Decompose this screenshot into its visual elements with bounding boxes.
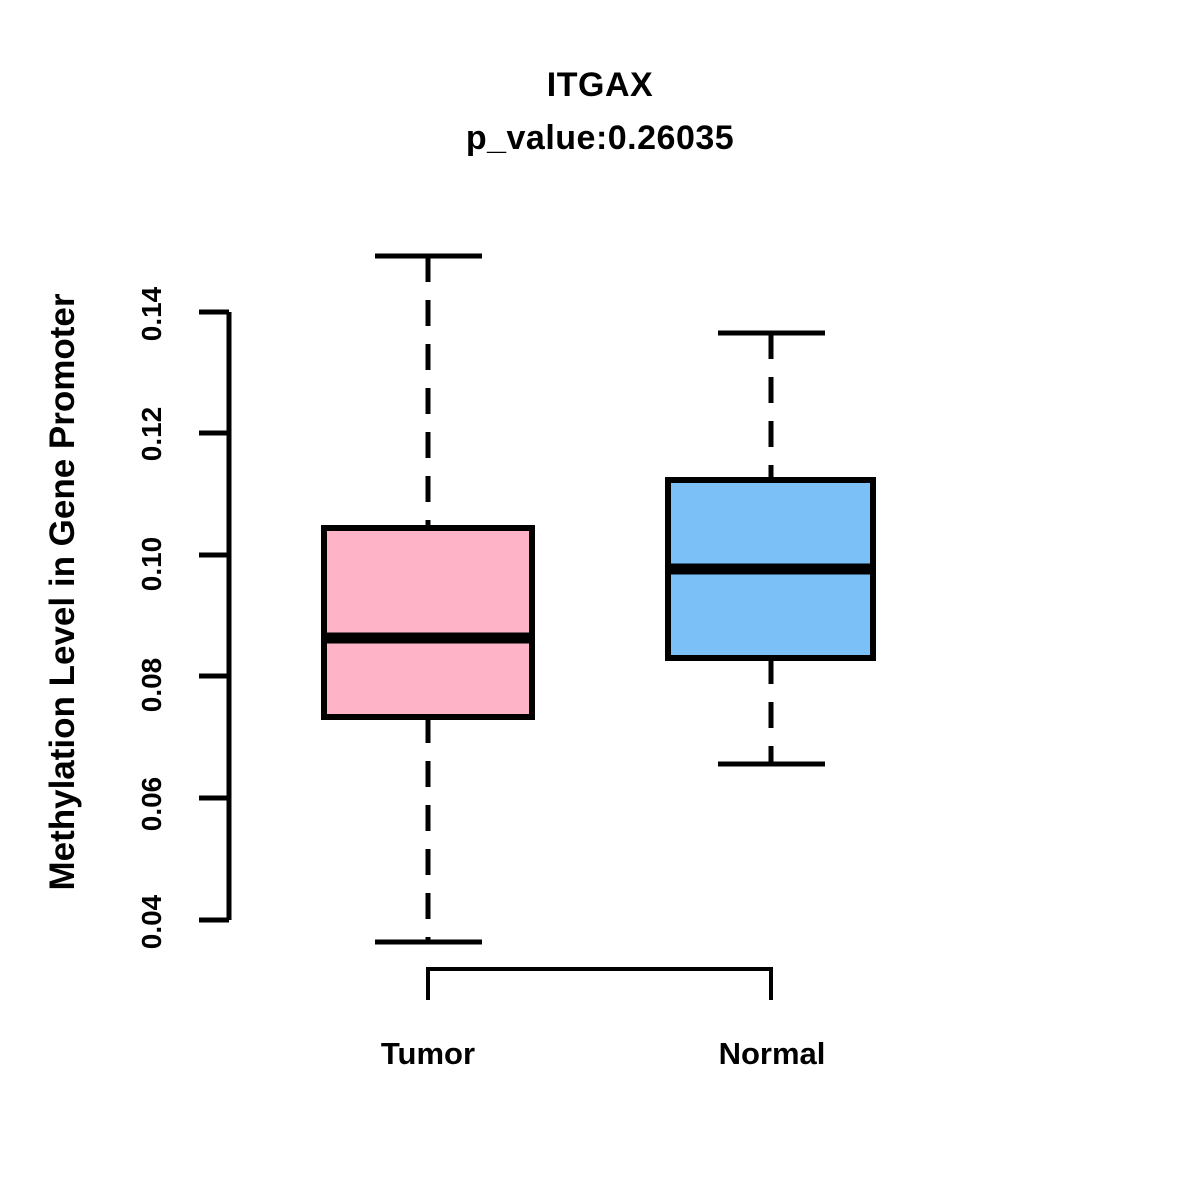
plot-canvas xyxy=(0,0,1200,1200)
y-axis xyxy=(199,312,229,920)
box-tumor xyxy=(324,256,532,942)
box-normal xyxy=(668,333,873,764)
comparison-bracket xyxy=(428,969,771,1000)
boxplot-figure: ITGAX p_value:0.26035 Methylation Level … xyxy=(0,0,1200,1200)
